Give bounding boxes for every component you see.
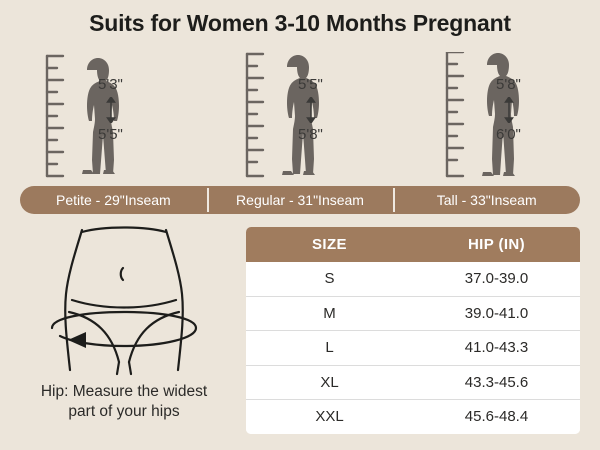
hip-measure-icon [24, 222, 224, 380]
table-row: S 37.0-39.0 [246, 262, 580, 296]
inseam-bar: Petite - 29"Inseam Regular - 31"Inseam T… [20, 186, 580, 214]
hip-caption-line2: part of your hips [8, 402, 240, 422]
figure-panel-regular: 5'5" 5'8" [200, 52, 400, 180]
inseam-label-tall: Tall - 33"Inseam [437, 192, 537, 208]
cell-hip: 45.6-48.4 [413, 408, 580, 425]
inseam-label-regular: Regular - 31"Inseam [236, 192, 364, 208]
petite-height-labels: 5'3" 5'5" [98, 76, 156, 144]
regular-range-arrow [304, 97, 318, 123]
cell-size: M [246, 305, 413, 322]
size-chart-page: Suits for Women 3-10 Months Pregnant [0, 0, 600, 450]
hip-tape-arrow [68, 332, 86, 348]
tall-height-top: 5'8" [496, 76, 554, 94]
table-row: M 39.0-41.0 [246, 296, 580, 331]
tall-height-labels: 5'8" 6'0" [496, 76, 554, 144]
inseam-segment-petite[interactable]: Petite - 29"Inseam [20, 186, 207, 214]
figure-panel-petite: 5'3" 5'5" [0, 52, 200, 180]
cell-size: L [246, 339, 413, 356]
regular-height-top: 5'5" [298, 76, 356, 94]
cell-hip: 43.3-45.6 [413, 374, 580, 391]
hip-caption-line1: Hip: Measure the widest [8, 382, 240, 402]
figure-panel-tall: 5'8" 6'0" [400, 52, 600, 180]
inseam-segment-regular[interactable]: Regular - 31"Inseam [207, 186, 394, 214]
cell-size: S [246, 270, 413, 287]
petite-range-arrow [104, 97, 118, 123]
figure-panels: 5'3" 5'5" [0, 52, 600, 180]
table-header-hip: HIP (IN) [413, 236, 580, 253]
size-table: SIZE HIP (IN) S 37.0-39.0 M 39.0-41.0 L … [246, 227, 580, 434]
tall-range-arrow [502, 97, 516, 123]
regular-height-labels: 5'5" 5'8" [298, 76, 356, 144]
cell-hip: 41.0-43.3 [413, 339, 580, 356]
cell-hip: 39.0-41.0 [413, 305, 580, 322]
table-header-row: SIZE HIP (IN) [246, 227, 580, 262]
cell-size: XXL [246, 408, 413, 425]
petite-height-bottom: 5'5" [98, 126, 156, 144]
petite-height-top: 5'3" [98, 76, 156, 94]
cell-size: XL [246, 374, 413, 391]
table-row: L 41.0-43.3 [246, 330, 580, 365]
tall-height-bottom: 6'0" [496, 126, 554, 144]
table-header-size: SIZE [246, 236, 413, 253]
cell-hip: 37.0-39.0 [413, 270, 580, 287]
table-row: XL 43.3-45.6 [246, 365, 580, 400]
table-row: XXL 45.6-48.4 [246, 399, 580, 434]
regular-height-bottom: 5'8" [298, 126, 356, 144]
hip-measurement-section: Hip: Measure the widest part of your hip… [8, 222, 240, 437]
inseam-segment-tall[interactable]: Tall - 33"Inseam [393, 186, 580, 214]
inseam-label-petite: Petite - 29"Inseam [56, 192, 171, 208]
hip-caption: Hip: Measure the widest part of your hip… [8, 382, 240, 422]
page-title: Suits for Women 3-10 Months Pregnant [0, 10, 600, 37]
